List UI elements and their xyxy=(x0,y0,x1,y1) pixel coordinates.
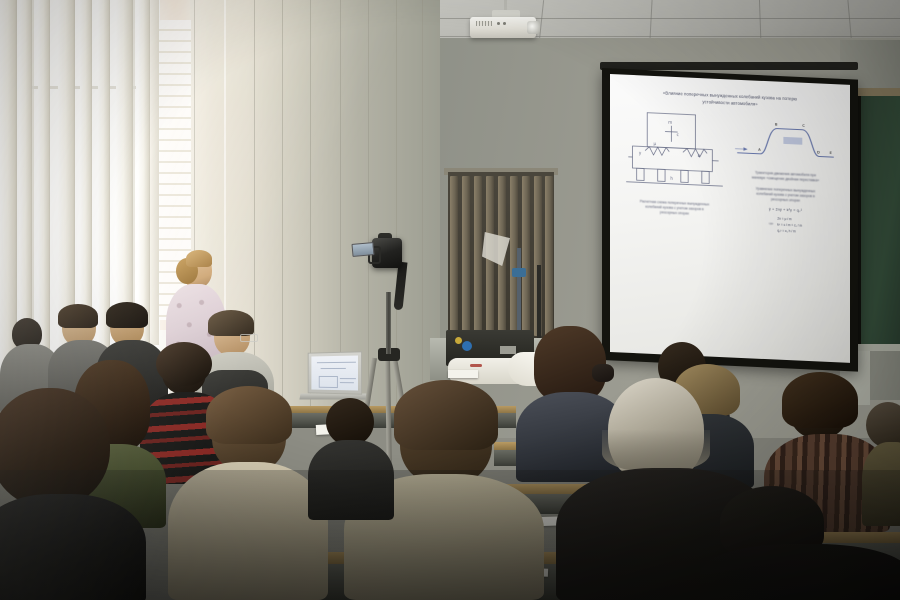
hair xyxy=(208,310,254,336)
svg-text:c: c xyxy=(677,132,679,137)
equipment-knob-blue[interactable] xyxy=(462,341,472,351)
eyeglasses-icon xyxy=(240,334,258,342)
hair xyxy=(58,304,98,328)
chalkboard xyxy=(858,96,900,346)
slide-main-formula: ÿ + 2nẏ + k²y = q₀² xyxy=(733,205,838,214)
svg-text:E: E xyxy=(830,151,832,155)
equipment-label xyxy=(500,346,516,354)
lecture-hall-photo: «Влияние поперечных вынужденных колебани… xyxy=(0,0,900,600)
torso-beige-sweater xyxy=(168,462,328,600)
slide-eq-3: q₀² = c₁ h / m xyxy=(777,227,802,234)
svg-text:b: b xyxy=(698,153,701,158)
slide-where-label: где xyxy=(769,215,773,225)
person-attendee-foreground-left-dark xyxy=(0,398,146,600)
hair-top xyxy=(186,250,212,267)
slide-left-caption: Расчетная схема поперечных вынужденных к… xyxy=(622,199,727,219)
projector-vent xyxy=(476,21,492,26)
person-attendee-beige-sweater xyxy=(168,392,328,600)
hair-wavy xyxy=(0,388,110,508)
slide-equation-block: где 2n = μ / m k² = c / m + c₁ / m q₀² =… xyxy=(733,213,838,236)
svg-text:μ: μ xyxy=(654,141,657,146)
svg-text:B: B xyxy=(775,123,778,127)
trajectory-diagram: A B C D E xyxy=(733,113,838,170)
presentation-slide: «Влияние поперечных вынужденных колебани… xyxy=(610,74,850,363)
torso xyxy=(700,544,900,600)
person-attendee-bottom-right-silhouette xyxy=(700,486,900,600)
hair xyxy=(782,372,858,428)
projector-lens xyxy=(527,21,540,34)
schematic-diagram: m c μ y b h xyxy=(622,108,727,199)
equipment-knob-yellow[interactable] xyxy=(455,337,462,344)
rack-valve xyxy=(512,268,526,277)
tripod-column xyxy=(386,292,391,354)
svg-text:C: C xyxy=(802,124,805,128)
slide-right-caption: Траектория движения автомобиля при манев… xyxy=(733,170,838,185)
slide-title: «Влияние поперечных вынужденных колебани… xyxy=(622,89,838,112)
torso xyxy=(308,440,394,520)
window-mullion xyxy=(150,0,159,345)
svg-text:A: A xyxy=(758,148,761,152)
person-attendee-center-dark-suit xyxy=(308,398,394,518)
hair-short xyxy=(206,386,292,444)
slide-left-column: m c μ y b h Расчетная схема поперечных в… xyxy=(622,108,727,232)
svg-text:D: D xyxy=(817,150,820,154)
camcorder-lcd-screen xyxy=(351,242,374,257)
rack-pipe xyxy=(517,248,521,340)
hair-grey-fringe xyxy=(602,430,710,472)
svg-text:m: m xyxy=(668,120,672,125)
head xyxy=(326,398,374,446)
hair xyxy=(106,302,148,328)
bag-red-marking xyxy=(470,364,482,367)
laptop-screen-content xyxy=(311,355,358,390)
slide-right-caption-2: Уравнение поперечных вынужденных колебан… xyxy=(733,186,838,206)
hair-short xyxy=(394,380,498,450)
slide-right-column: A B C D E Траектория движения автомобиля… xyxy=(733,113,838,237)
svg-text:y: y xyxy=(639,150,642,155)
chalkboard-tray xyxy=(856,344,900,351)
paper-handout-4 xyxy=(448,370,478,378)
svg-text:h: h xyxy=(670,176,673,181)
projection-screen: «Влияние поперечных вынужденных колебани… xyxy=(610,74,850,363)
torso-black-jacket xyxy=(0,494,146,600)
